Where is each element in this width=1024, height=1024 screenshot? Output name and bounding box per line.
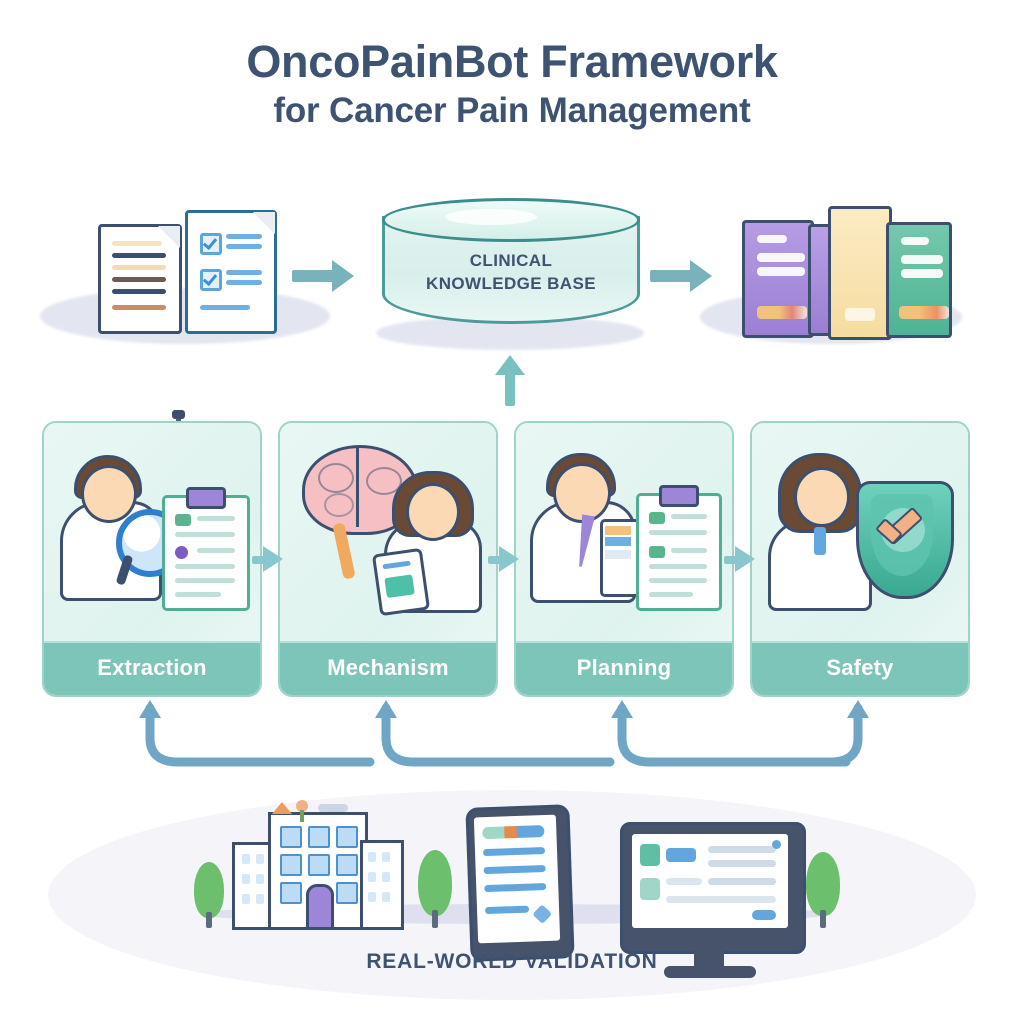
title-main: OncoPainBot Framework [0,38,1024,86]
checklist-document-icon [185,210,277,334]
validation-label: REAL-WORLD VALIDATION [0,950,1024,974]
rooftop-antenna [318,804,348,812]
clipboard-clip [659,485,699,507]
title-subtitle: for Cancer Pain Management [0,92,1024,129]
document-icon [98,224,182,334]
stage-card-extraction[interactable]: Extraction [42,421,262,697]
validation-section [0,780,1024,1024]
checkbox-icon [200,233,222,255]
framework-diagram: OncoPainBot Framework for Cancer Pain Ma… [0,0,1024,1024]
kb-label-line2: KNOWLEDGE BASE [426,274,596,293]
feedback-arrowhead-3 [611,700,633,718]
clipboard-clip [186,487,226,509]
arrow-right-icon [499,546,519,572]
entrance-door [306,884,334,930]
checkbox-icon [200,269,222,291]
feedback-arrowhead-1 [139,700,161,718]
card-illustration-safety [752,423,968,645]
arrow-right-icon [650,270,692,282]
binder-purple [742,220,814,338]
shield-icon [856,481,954,599]
cylinder-top [382,198,640,242]
face [406,483,460,541]
face [794,467,850,527]
tablet-device-icon [372,548,430,616]
medication-bottle-icon [600,519,640,597]
binder-green [886,222,952,338]
arrow-right-icon [263,546,283,572]
stage-label-mechanism: Mechanism [280,641,496,695]
stage-label-safety: Safety [752,641,968,695]
feedback-path-4 [650,708,858,762]
stage-card-mechanism[interactable]: Mechanism [278,421,498,697]
arrow-up-icon [505,372,515,406]
feedback-arrowhead-4 [847,700,869,718]
arrow-right-icon [292,270,334,282]
face [553,463,611,523]
arrow-right-icon [735,546,755,572]
stage-card-planning[interactable]: Planning [514,421,734,697]
feedback-arrowhead-2 [375,700,397,718]
clipboard-icon [636,493,722,611]
card-illustration-extraction [44,423,260,645]
page-title: OncoPainBot Framework for Cancer Pain Ma… [0,38,1024,129]
stage-card-safety[interactable]: Safety [750,421,970,697]
feedback-path-3 [622,708,846,762]
binder-cream [828,206,892,340]
kb-label-line1: CLINICAL [470,251,553,270]
stage-label-extraction: Extraction [44,641,260,695]
card-illustration-mechanism [280,423,496,645]
necktie [814,527,826,555]
feedback-path-1 [150,708,370,762]
face [81,465,137,523]
top-pipeline-row: CLINICAL KNOWLEDGE BASE [0,178,1024,358]
clinical-knowledge-base: CLINICAL KNOWLEDGE BASE [382,198,640,330]
feedback-arrows [0,700,1024,780]
clipboard-icon [162,495,250,611]
stage-label-planning: Planning [516,641,732,695]
document-fold-icon [253,212,275,234]
feedback-path-2 [386,708,610,762]
cylinder-highlight [445,209,537,225]
feedback-loop-svg [0,700,1024,780]
kb-label: CLINICAL KNOWLEDGE BASE [382,250,640,296]
card-illustration-planning [516,423,732,645]
